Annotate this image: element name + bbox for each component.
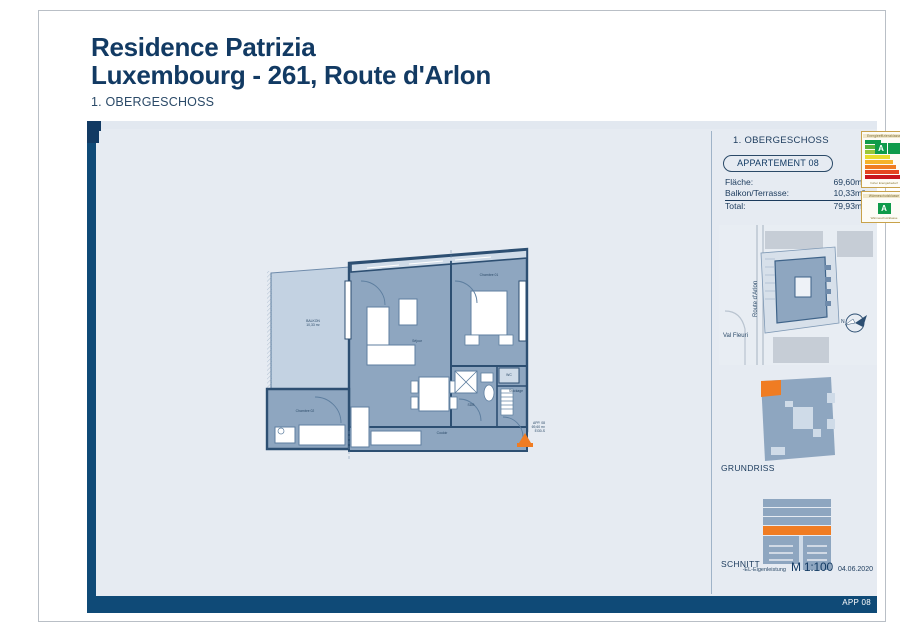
site-plan: Route d'Arlon Val Fleuri N xyxy=(719,225,877,365)
footer-date: 04.06.2020 xyxy=(838,566,873,573)
energy-label-main: Energieeffizienzklasse A hoher Energiebe… xyxy=(861,131,900,188)
page-title-line2: Luxembourg - 261, Route d'Arlon xyxy=(91,61,831,89)
energy-rating-box: A xyxy=(875,143,887,154)
area-row-flaeche: Fläche: 69,60m² xyxy=(725,177,865,188)
floor-plan-area: BALKON 10,33 m² Séjour Chambre 01 Chambr… xyxy=(99,131,711,594)
apartment-badge: APPARTEMENT 08 xyxy=(723,155,833,172)
page-title-line1: Residence Patrizia xyxy=(91,33,831,61)
site-street-route-darlon: Route d'Arlon xyxy=(753,281,759,317)
site-plan-drawing xyxy=(719,225,877,365)
document-header: Residence Patrizia Luxembourg - 261, Rou… xyxy=(91,33,831,109)
room-label-wc: WC xyxy=(501,373,517,377)
room-label-chambre-01: Chambre 01 xyxy=(465,273,513,277)
room-label-sdb: SDB xyxy=(457,403,485,407)
energy-certificate: Energieeffizienzklasse A hoher Energiebe… xyxy=(861,131,900,223)
energy-label-secondary: Wärmeschutzklasse A Wärmeschutzklasse xyxy=(861,191,900,223)
footer-scale: M 1:100 xyxy=(791,560,833,574)
room-label-sejour: Séjour xyxy=(395,339,439,343)
energy-second-footer: Wärmeschutzklasse xyxy=(863,216,900,220)
room-label-couloir: Couloir xyxy=(425,431,459,435)
schnitt-key-plan: SCHNITT xyxy=(719,497,877,592)
panel-divider xyxy=(711,131,712,594)
page-subtitle: 1. OBERGESCHOSS xyxy=(91,95,831,109)
info-panel: 1. OBERGESCHOSS APPARTEMENT 08 Fläche: 6… xyxy=(715,129,877,596)
area-row-balkon: Balkon/Terrasse: 10,33m² xyxy=(725,188,865,201)
energy-second-caption: Wärmeschutzklasse xyxy=(863,194,900,198)
footer-apartment-number: APP 08 xyxy=(842,598,871,607)
area-row-total: Total: 79,93m² xyxy=(725,201,865,212)
apartment-stamp: APP. 08 69,60 m² EI30-S xyxy=(509,421,545,433)
room-label-stockage: Stockage xyxy=(501,389,531,393)
room-label-chambre-02: Chambre 02 xyxy=(281,409,329,413)
grundriss-caption: GRUNDRISS xyxy=(721,463,775,473)
floor-plan-drawing xyxy=(99,131,711,594)
grundriss-key-plan: GRUNDRISS xyxy=(719,373,877,493)
compass-north-label: N xyxy=(841,319,845,325)
site-street-val-fleuri: Val Fleuri xyxy=(723,333,748,339)
area-table: Fläche: 69,60m² Balkon/Terrasse: 10,33m²… xyxy=(725,177,865,212)
energy-bars: A xyxy=(863,138,900,181)
frame-bottom-band xyxy=(87,596,877,613)
drawing-footer: -EL-Eigenleistung M 1:100 04.06.2020 xyxy=(743,560,873,574)
grundriss-drawing xyxy=(719,373,877,473)
energy-footer: hoher Energiebedarf xyxy=(863,181,900,185)
room-label-balkon: BALKON 10,33 m² xyxy=(291,319,335,327)
frame-left-band xyxy=(87,121,96,613)
energy-rating-tag xyxy=(888,143,900,154)
info-floor-label: 1. OBERGESCHOSS xyxy=(733,135,829,146)
energy-second-rating: A xyxy=(878,203,891,214)
document-page: Residence Patrizia Luxembourg - 261, Rou… xyxy=(38,10,886,622)
footer-note: -EL-Eigenleistung xyxy=(743,567,786,573)
